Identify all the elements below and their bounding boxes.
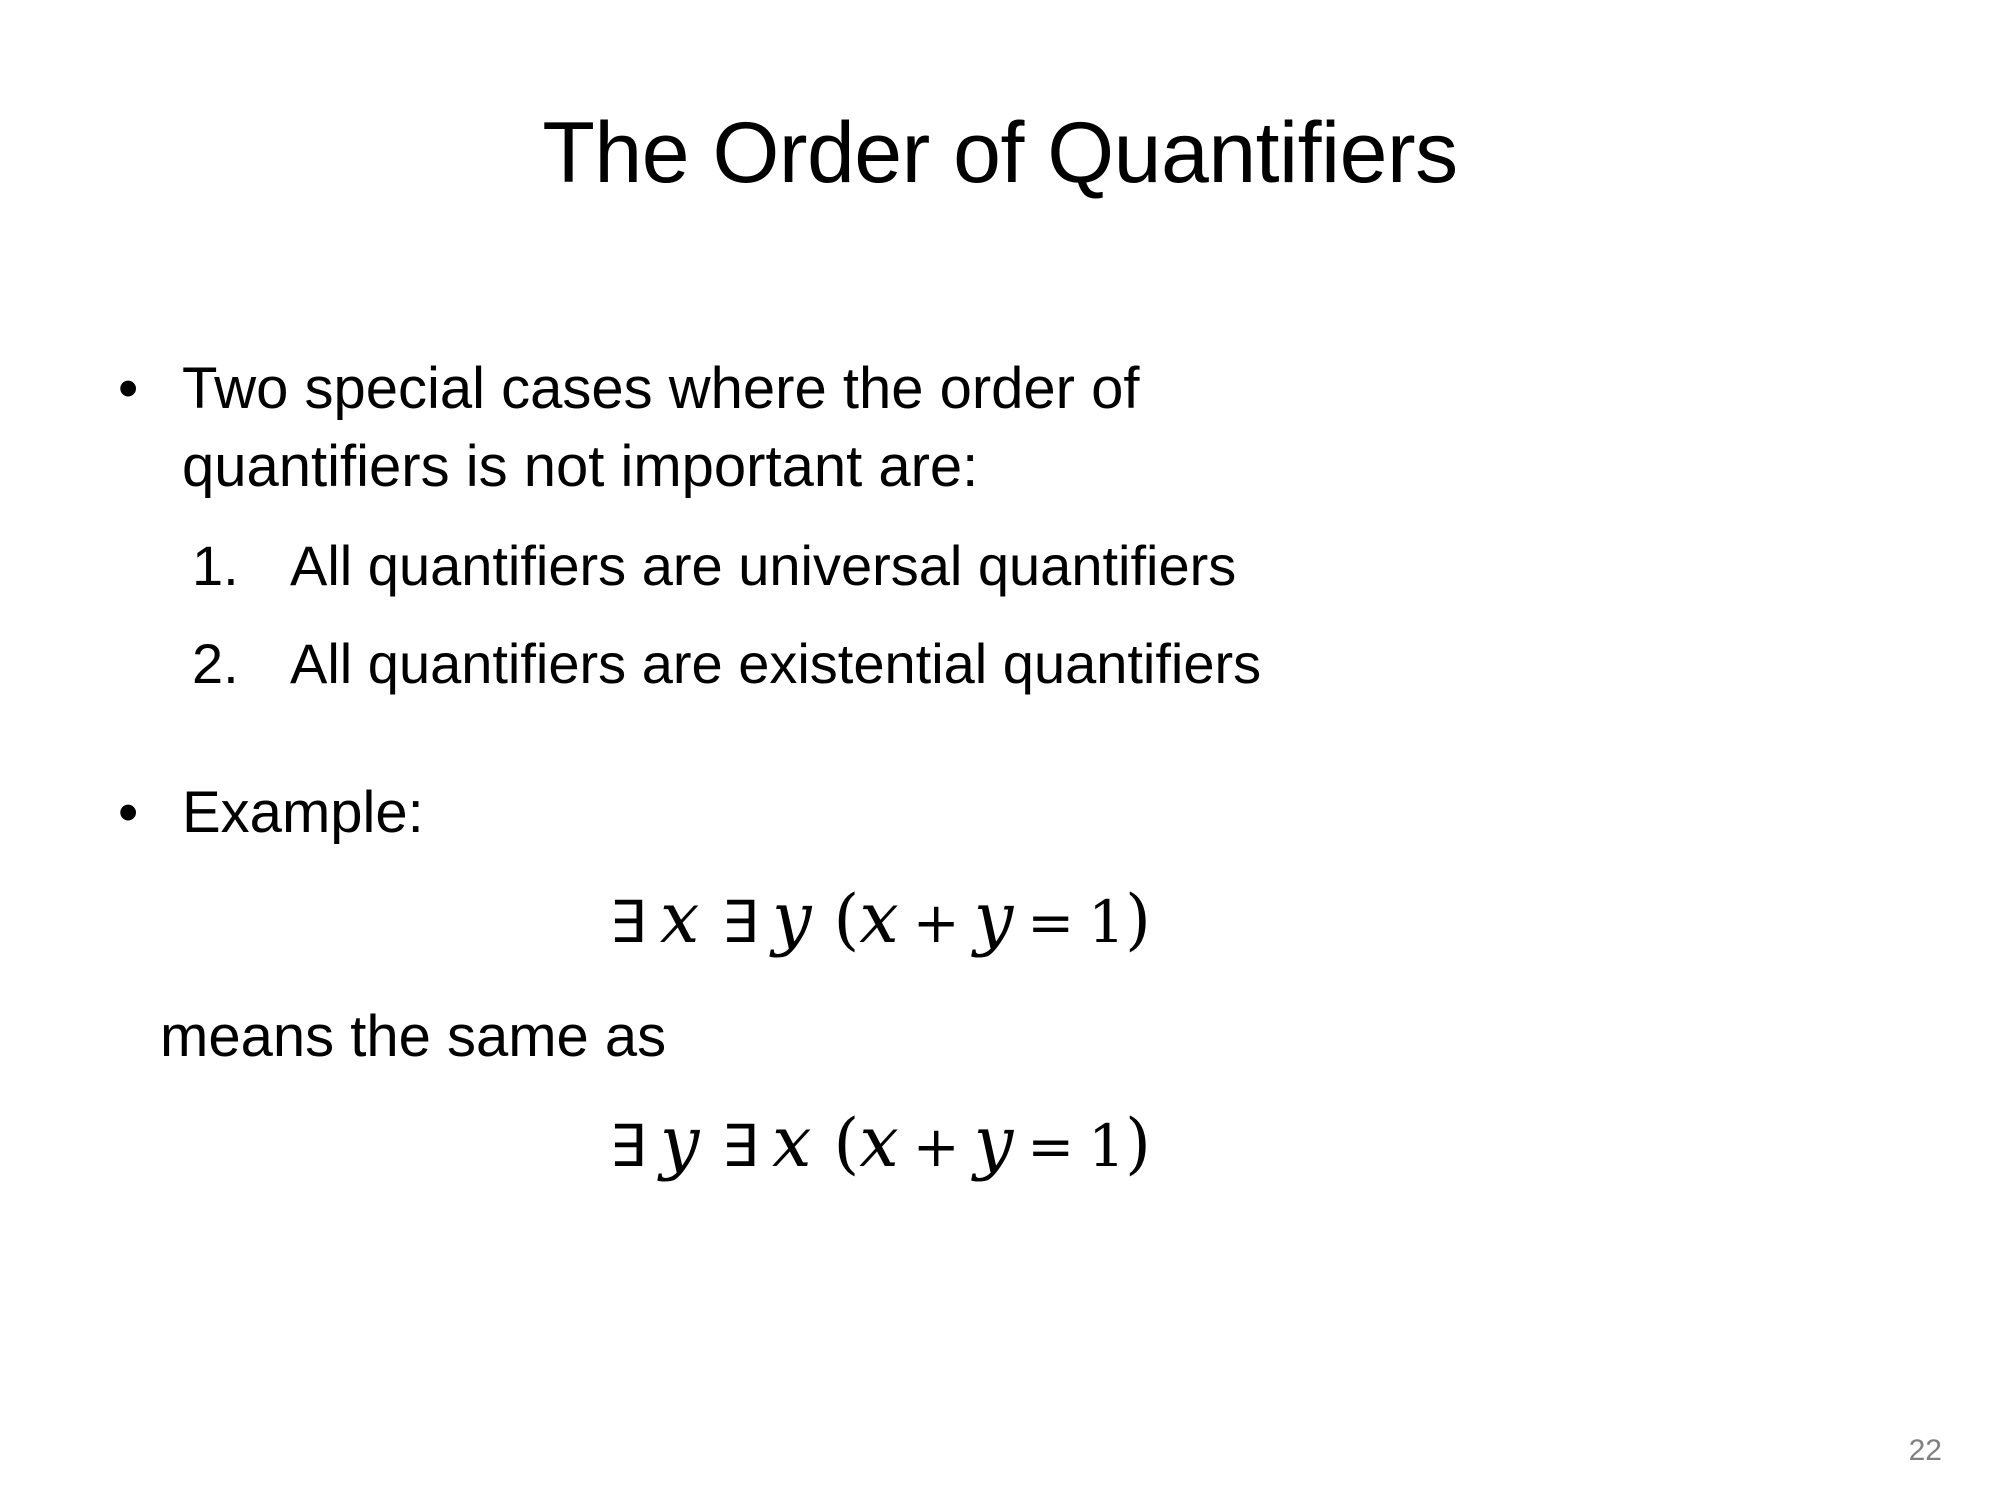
formula-expr-left: x — [859, 1101, 898, 1183]
formula-open-paren: ( — [834, 881, 860, 958]
formula-second: ∃y∃x(x+y=1) — [110, 1094, 1910, 1196]
bullet-point-icon: • — [110, 350, 182, 428]
example-section: • Example: ∃x∃y(x+y=1) means the same as… — [110, 774, 1910, 1196]
exists-quantifier-icon: ∃ — [609, 888, 646, 956]
slide: The Order of Quantifiers • Two special c… — [0, 0, 2000, 1500]
formula-equals-operator: = — [1027, 1115, 1074, 1180]
list-item-number: 1. — [192, 528, 290, 604]
list-item: 1. All quantifiers are universal quantif… — [192, 528, 1910, 604]
list-item: 2. All quantifiers are existential quant… — [192, 626, 1910, 702]
formula-connector-text: means the same as — [110, 998, 1910, 1076]
example-label: Example: — [182, 774, 1910, 852]
formula-variable-1: y — [660, 1101, 700, 1183]
bullet-line-2: quantifiers is not important are: — [182, 434, 978, 499]
slide-body: • Two special cases where the order of q… — [110, 350, 1910, 1196]
bullet-point-icon: • — [110, 774, 182, 852]
formula-expr-right: y — [974, 877, 1014, 959]
formula-plus-operator: + — [913, 1115, 960, 1180]
list-item-label: All quantifiers are existential quantifi… — [290, 626, 1910, 702]
exists-quantifier-icon: ∃ — [721, 1112, 758, 1180]
bullet-item-example: • Example: — [110, 774, 1910, 852]
formula-first: ∃x∃y(x+y=1) — [110, 870, 1910, 972]
bullet-line-1: Two special cases where the order of — [182, 356, 1139, 421]
list-item-label: All quantifiers are universal quantifier… — [290, 528, 1910, 604]
exists-quantifier-icon: ∃ — [721, 888, 758, 956]
formula-variable-2: y — [772, 877, 812, 959]
bullet-item-two-special-cases: • Two special cases where the order of q… — [110, 350, 1910, 506]
formula-close-paren: ) — [1125, 881, 1151, 958]
formula-plus-operator: + — [913, 891, 960, 956]
exists-quantifier-icon: ∃ — [609, 1112, 646, 1180]
formula-variable-1: x — [660, 877, 699, 959]
list-item-number: 2. — [192, 626, 290, 702]
formula-value: 1 — [1088, 888, 1125, 956]
formula-variable-2: x — [772, 1101, 811, 1183]
formula-open-paren: ( — [834, 1105, 860, 1182]
formula-equals-operator: = — [1027, 891, 1074, 956]
formula-expr-left: x — [859, 877, 898, 959]
formula-expr-right: y — [974, 1101, 1014, 1183]
formula-close-paren: ) — [1125, 1105, 1151, 1182]
slide-page-number: 22 — [1909, 1434, 1942, 1468]
page-title: The Order of Quantifiers — [0, 108, 2000, 198]
formula-value: 1 — [1088, 1112, 1125, 1180]
bullet-item-text: Two special cases where the order of qua… — [182, 350, 1910, 506]
numbered-list: 1. All quantifiers are universal quantif… — [110, 528, 1910, 702]
